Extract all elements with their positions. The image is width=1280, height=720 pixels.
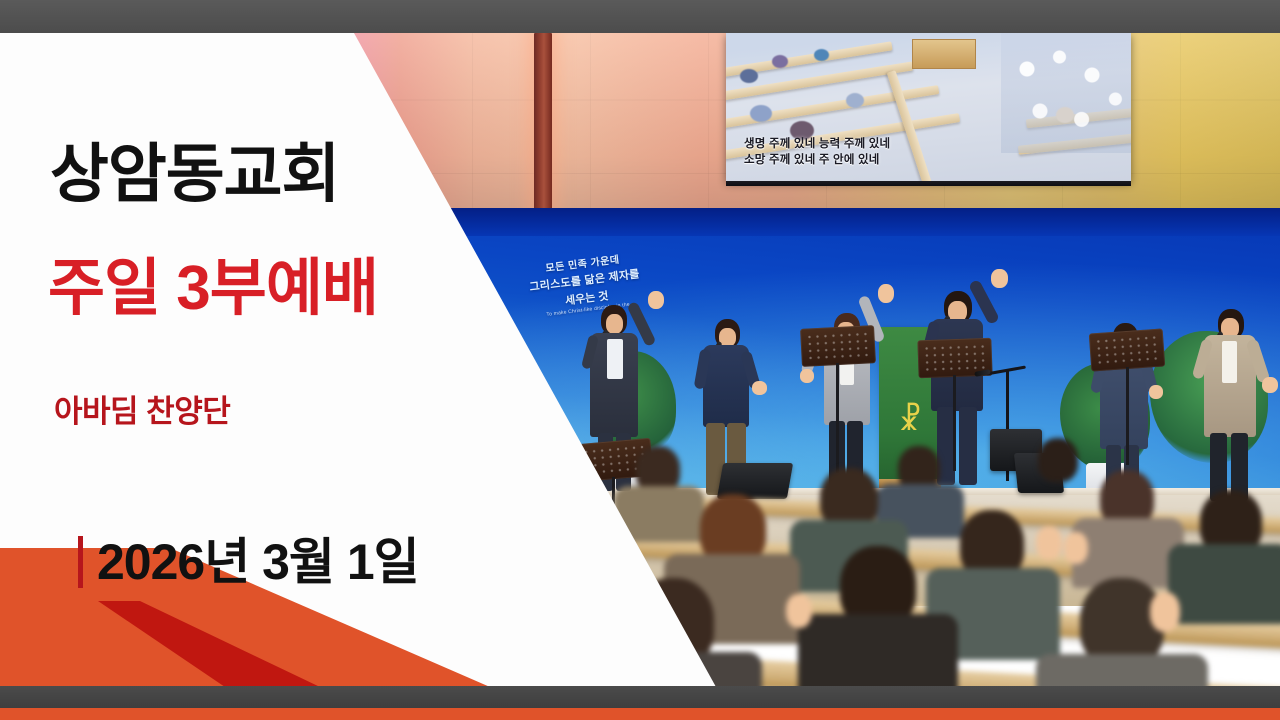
letterbox-bar-top — [0, 0, 1280, 33]
service-date: 2026년 3월 1일 — [97, 537, 419, 587]
church-name: 상암동교회 — [50, 142, 339, 206]
congregant-clapping-hand — [1150, 592, 1180, 632]
congregant-clapping-hand — [1036, 526, 1062, 560]
congregant-shoulders — [1036, 654, 1208, 687]
screen-wooden-podium — [912, 39, 976, 69]
screen-person — [1056, 107, 1074, 123]
screen-bottom-bezel — [726, 181, 1131, 186]
congregant-clapping-hand — [786, 594, 812, 628]
congregant-clapping-hand — [1064, 532, 1088, 564]
screen-person — [750, 105, 772, 122]
lyrics-line-1: 생명 주께 있네 능력 주께 있네 — [744, 136, 1101, 153]
service-title: 주일 3부예배 — [48, 258, 378, 320]
date-accent-bar — [78, 536, 83, 588]
praise-team-name: 아바딤 찬양단 — [54, 396, 230, 427]
screen-image-sanctuary: 생명 주께 있네 능력 주께 있네 소망 주께 있네 주 안에 있네 — [726, 33, 1131, 181]
service-date-line: 2026년 3월 1일 — [78, 536, 419, 588]
screen-person — [772, 55, 788, 68]
bottom-orange-strip — [0, 708, 1280, 720]
congregant-shoulders — [1168, 544, 1280, 624]
projection-screen: 생명 주께 있네 능력 주께 있네 소망 주께 있네 주 안에 있네 — [726, 33, 1131, 181]
congregant-shoulders — [798, 614, 958, 687]
screen-person — [740, 69, 758, 83]
screen-lyrics: 생명 주께 있네 능력 주께 있네 소망 주께 있네 주 안에 있네 — [744, 136, 1101, 169]
screen-person — [814, 49, 829, 61]
congregant-head — [1038, 438, 1078, 482]
lyrics-line-2: 소망 주께 있네 주 안에 있네 — [744, 152, 1101, 169]
screen-person — [846, 93, 864, 108]
slide-canvas: 생명 주께 있네 능력 주께 있네 소망 주께 있네 주 안에 있네 모든 민족… — [0, 0, 1280, 720]
letterbox-bar-bottom — [0, 686, 1280, 708]
